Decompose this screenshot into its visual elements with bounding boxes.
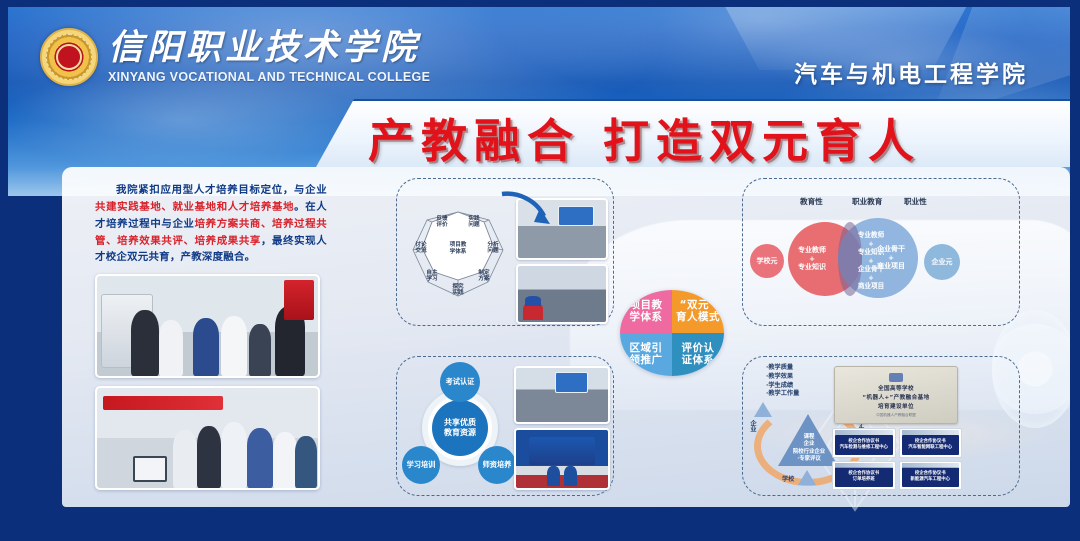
photo-workshop-tour [95,386,320,490]
certificate-header-bar [902,463,960,468]
person-shape [197,426,221,488]
main-title-banner: 产教融合 打造双元育人 [316,99,1080,167]
heptagon-node-feedback-2: 评价 [436,220,448,228]
person-shape [295,436,317,488]
heptagon-node-plan-2: 方案 [478,274,490,282]
heptagon-node-feedback-1: 反馈 [436,214,448,222]
plaque-line-3: 培育建设单位 [878,402,914,410]
certificate-grid: 校企合作协议书 汽车检测与维修工程中心 校企合作协议书 汽车智能网联工程中心 校… [832,428,962,490]
person-shape [159,320,183,376]
corner-marker-enterprise-icon [754,402,772,417]
person-shape [193,318,219,376]
frame-edge-right [1070,0,1080,541]
ring-node-exam-certification[interactable]: 考试认证 [440,362,480,402]
evaluation-metric-item: ·教学工作量 [766,390,799,399]
ring-node-label: 考试认证 [446,378,475,387]
certificate-label: 校企合作协议书 订单培养班 [835,467,893,487]
photo-cooperation-meeting [514,366,610,424]
monitor-shape [133,456,167,482]
heptagon-node-selfstudy-2: 学习 [426,274,438,282]
certificate-label: 校企合作协议书 汽车检测与维修工程中心 [835,435,893,455]
person-shape [547,466,560,486]
heptagon-center-label-2: 学体系 [450,247,467,255]
photo-banner-accent [284,280,314,320]
ring-node-learning-training[interactable]: 学习培训 [402,446,440,484]
heptagon-node-analyze-2: 问题 [487,246,499,254]
ring-node-teacher-development[interactable]: 师资培养 [478,446,516,484]
person-shape [564,466,577,486]
venn-enterprise-element: 企业元 [924,244,960,280]
heptagon-node-analyze-1: 分析 [487,240,499,248]
quad-label-line: 区域引 [630,343,663,355]
meeting-screen-shape [558,206,593,226]
page-title: 产教融合 打造双元育人 [368,105,921,171]
intro-segment: 共建实践基地、就业基地和人才培养基地 [95,201,294,213]
venn-overlap-label: 专业教师 + 专业知识 + 企业骨干 + 商业项目 [836,226,906,296]
heptagon-node-discuss-2: 交流 [415,246,427,254]
quad-label-line: 项目教 [630,300,663,312]
left-column: 我院紧扣应用型人才培养目标定位，与企业共建实践基地、就业基地和人才培养基地。在人… [95,182,327,490]
heptagon-node-selfstudy-1: 自主 [426,268,438,276]
quad-label-line: 评价认 [682,343,715,355]
heptagon-node-plan-1: 制定 [478,268,490,276]
certificate-label: 校企合作协议书 新能源汽车工程中心 [902,467,960,487]
certificate-header-bar [902,430,960,435]
school-name-en: XINYANG VOCATIONAL AND TECHNICAL COLLEGE [108,71,430,84]
person-shape [173,430,197,488]
blue-arrow-icon [500,188,554,230]
person-shape [249,324,271,376]
certificate-label: 校企合作协议书 汽车智能网联工程中心 [902,435,960,455]
dual-element-venn: 教育性 职业教育 职业性 学校元 专业教师 + 专业知识 企业骨干 + 商业项目… [748,196,1016,320]
intro-paragraph: 我院紧扣应用型人才培养目标定位，与企业共建实践基地、就业基地和人才培养基地。在人… [95,182,327,266]
meeting-screen-shape [555,372,588,393]
project-system-heptagon: 项目教 学体系 实践 问题 分析 问题 制定 方案 探究 实践 自主 学习 讨论… [404,206,512,318]
venn-school-element: 学校元 [750,244,784,278]
frame-edge-left [0,0,8,541]
school-logo-block: 信阳职业技术学院 XINYANG VOCATIONAL AND TECHNICA… [40,28,430,86]
quad-label-line: 育人模式 [676,312,720,324]
certificate-card: 校企合作协议书 汽车检测与维修工程中心 [832,428,896,458]
certificate-header-bar [835,463,893,468]
person-shape [273,432,297,488]
photo-red-banner [103,396,223,410]
plaque-line-2: “机器人+”产教融合基地 [862,393,929,401]
shared-resource-ring: 共享优质 教育资源 考试认证 学习培训 师资培养 [400,362,518,490]
heptagon-node-practice-1: 实践 [468,214,480,222]
plaque-emblem-icon [889,373,903,382]
evaluation-metric-item: ·教学质量 [766,364,799,373]
plaque-line-1: 全国高等学校 [878,384,914,392]
heptagon-node-explore-1: 探究 [452,282,464,290]
certificate-card: 校企合作协议书 汽车智能网联工程中心 [899,428,963,458]
person-shape [131,310,159,376]
photo-skill-competition [514,428,610,490]
intro-segment: 我院紧扣应用型人才培养目标定位，与企业 [116,184,327,196]
evaluation-triangle-label: 课程 企业 院校行业企业 ·专家评议 [780,434,838,463]
photo-training-session [516,264,608,324]
venn-label-vocational-education: 职业教育 [852,196,882,207]
quad-label-line: 学体系 [630,312,663,324]
four-system-wheel: 项目教 学体系 “双元” 育人模式 区域引 领推广 评价认 证体系 [620,290,724,376]
person-shape [221,422,247,488]
heptagon-node-explore-2: 实践 [452,288,464,296]
seal-ring-decoration [46,34,92,80]
school-name-cn: 信阳职业技术学院 [108,30,430,65]
certificate-header-bar [835,430,893,435]
venn-label-educational: 教育性 [800,196,823,207]
school-seal-icon [40,28,98,86]
photo-lab-visit [95,274,320,378]
corner-label-school: 学校 [782,474,794,483]
certificate-card: 校企合作协议书 订单培养班 [832,461,896,491]
ring-center-label: 共享优质 教育资源 [432,400,488,456]
stage-screen-shape [529,437,595,465]
heptagon-node-discuss-1: 讨论 [415,240,427,248]
heptagon-node-practice-2: 问题 [468,220,480,228]
honor-plaque: 全国高等学校 “机器人+”产教融合基地 培育建设单位 中国机器人产教融合联盟 [834,366,958,424]
department-name: 汽车与机电工程学院 [794,55,1028,89]
school-name-block: 信阳职业技术学院 XINYANG VOCATIONAL AND TECHNICA… [108,30,430,84]
corner-marker-school-icon [798,470,816,485]
corner-label-enterprise: 企业 [748,420,757,432]
training-prop-shape [525,296,541,306]
frame-edge-bottom [0,532,1080,541]
person-shape [247,428,273,488]
ring-node-label: 学习培训 [407,461,436,470]
certificate-card: 校企合作协议书 新能源汽车工程中心 [899,461,963,491]
frame-edge-top [0,0,1080,7]
ring-node-label: 师资培养 [483,461,512,470]
venn-label-vocational: 职业性 [904,196,927,207]
evaluation-metrics-list: ·教学质量 ·教学效果 ·学生成绩 ·教学工作量 [766,364,799,399]
plaque-subtitle: 中国机器人产教融合联盟 [876,413,916,418]
evaluation-metric-item: ·教学效果 [766,373,799,382]
heptagon-center-label-1: 项目教 [450,240,467,248]
poster-root: 信阳职业技术学院 XINYANG VOCATIONAL AND TECHNICA… [0,0,1080,541]
person-shape [221,316,247,376]
